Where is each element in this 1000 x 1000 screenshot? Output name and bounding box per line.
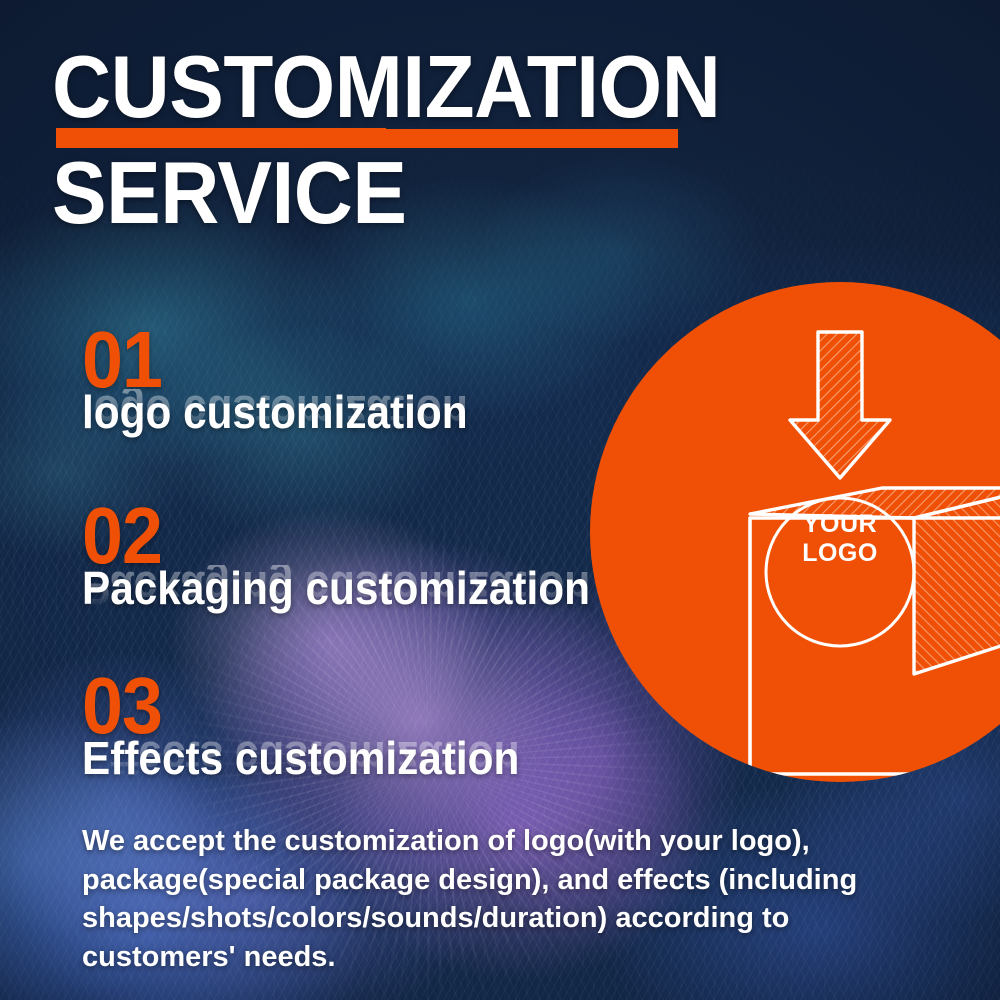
- box-right-face: [914, 488, 1000, 674]
- logo-customization-graphic: YOUR LOGO: [590, 282, 1000, 782]
- logo-text-line-1: YOUR: [775, 510, 905, 539]
- service-item-1-label-wrap: logo customization logo customization: [82, 389, 501, 435]
- logo-text-line-2: LOGO: [775, 539, 905, 568]
- logo-placeholder-text: YOUR LOGO: [775, 510, 905, 568]
- service-item-2-number: 02: [82, 502, 590, 569]
- down-arrow-icon: [790, 332, 890, 478]
- service-item-3-number: 03: [82, 672, 519, 739]
- service-item-2: 02 Packaging customization Packaging cus…: [82, 502, 634, 611]
- service-item-2-label: Packaging customization: [82, 565, 590, 611]
- customization-service-poster: CUSTOMIZATION SERVICE 01 logo customizat…: [0, 0, 1000, 1000]
- description-line-4: customers' needs.: [82, 938, 852, 977]
- description-line-2: package(special package design), and eff…: [82, 861, 852, 900]
- page-title: CUSTOMIZATION SERVICE: [52, 48, 772, 232]
- title-line-2: SERVICE: [52, 154, 722, 231]
- title-line-1: CUSTOMIZATION: [52, 48, 722, 125]
- service-item-2-label-wrap: Packaging customization Packaging custom…: [82, 565, 634, 611]
- description-line-1: We accept the customization of logo(with…: [82, 822, 852, 861]
- service-item-3: 03 Effects customization Effects customi…: [82, 672, 557, 781]
- service-item-3-label: Effects customization: [82, 735, 519, 781]
- description-paragraph: We accept the customization of logo(with…: [82, 822, 852, 976]
- service-item-3-label-wrap: Effects customization Effects customizat…: [82, 735, 557, 781]
- service-item-1-number: 01: [82, 326, 468, 393]
- description-line-3: shapes/shots/colors/sounds/duration) acc…: [82, 899, 852, 938]
- service-item-1: 01 logo customization logo customization: [82, 326, 501, 435]
- service-item-1-label: logo customization: [82, 389, 468, 435]
